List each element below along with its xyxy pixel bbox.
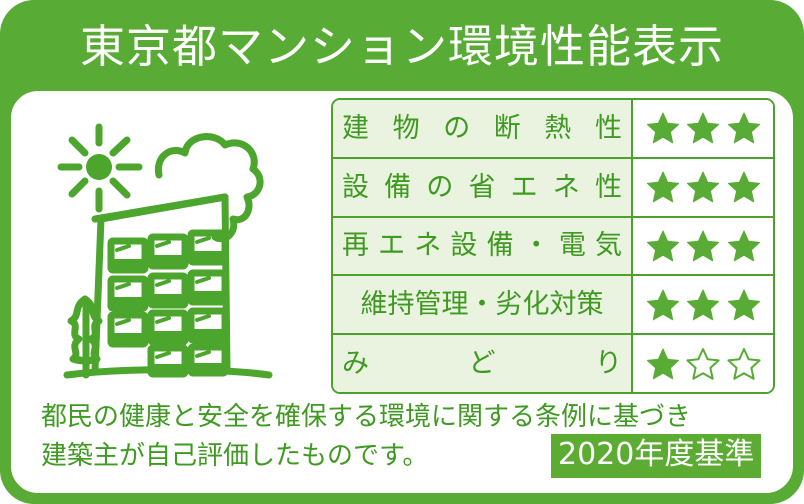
star-filled-icon (646, 229, 680, 263)
sun-icon (61, 127, 139, 209)
rating-label-energy-saving: 設 備 の 省 エ ネ 性 (333, 159, 633, 216)
title-band: 東京都マンション環境性能表示 (0, 0, 804, 92)
table-row: 再 エ ネ 設 備 ・ 電 気 (333, 218, 773, 277)
footer-text-line-2: 建築主が自己評価したものです。 (41, 443, 428, 469)
rating-table: 建 物 の 断 熱 性 設 備 の 省 エ ネ 性 (331, 98, 775, 394)
rating-label-greenery: み ど り (333, 335, 633, 392)
table-row: 維持管理・劣化対策 (333, 276, 773, 335)
rating-stars-greenery (633, 335, 773, 392)
star-filled-icon (686, 170, 720, 204)
table-row: 建 物 の 断 熱 性 (333, 100, 773, 159)
star-filled-icon (686, 229, 720, 263)
star-empty-icon (727, 347, 761, 381)
rating-stars-renewable-energy (633, 218, 773, 275)
page-title: 東京都マンション環境性能表示 (80, 24, 724, 69)
star-filled-icon (646, 170, 680, 204)
footer: 都民の健康と安全を確保する環境に関する条例に基づき 建築主が自己評価したものです… (11, 396, 799, 496)
star-filled-icon (727, 170, 761, 204)
rating-stars-insulation (633, 100, 773, 157)
star-filled-icon (646, 347, 680, 381)
table-row: 設 備 の 省 エ ネ 性 (333, 159, 773, 218)
eco-apartment-illustration (47, 109, 317, 399)
apartment-building-icon (95, 197, 227, 374)
table-row: み ど り (333, 335, 773, 392)
rating-label-renewable-energy: 再 エ ネ 設 備 ・ 電 気 (333, 218, 633, 275)
star-empty-icon (686, 347, 720, 381)
star-filled-icon (727, 229, 761, 263)
content-panel: 建 物 の 断 熱 性 設 備 の 省 エ ネ 性 (8, 88, 796, 496)
rating-stars-maintenance (633, 276, 773, 333)
star-filled-icon (686, 288, 720, 322)
rating-stars-energy-saving (633, 159, 773, 216)
star-filled-icon (646, 111, 680, 145)
environment-performance-label: 東京都マンション環境性能表示 (0, 0, 804, 504)
rating-label-maintenance: 維持管理・劣化対策 (333, 276, 633, 333)
standard-year-badge: 2020年度基準 (551, 434, 761, 478)
star-filled-icon (727, 111, 761, 145)
cloud-icon (158, 137, 260, 239)
rating-label-insulation: 建 物 の 断 熱 性 (333, 100, 633, 157)
star-filled-icon (727, 288, 761, 322)
footer-text-line-1: 都民の健康と安全を確保する環境に関する条例に基づき (41, 404, 691, 430)
star-filled-icon (686, 111, 720, 145)
star-filled-icon (646, 288, 680, 322)
